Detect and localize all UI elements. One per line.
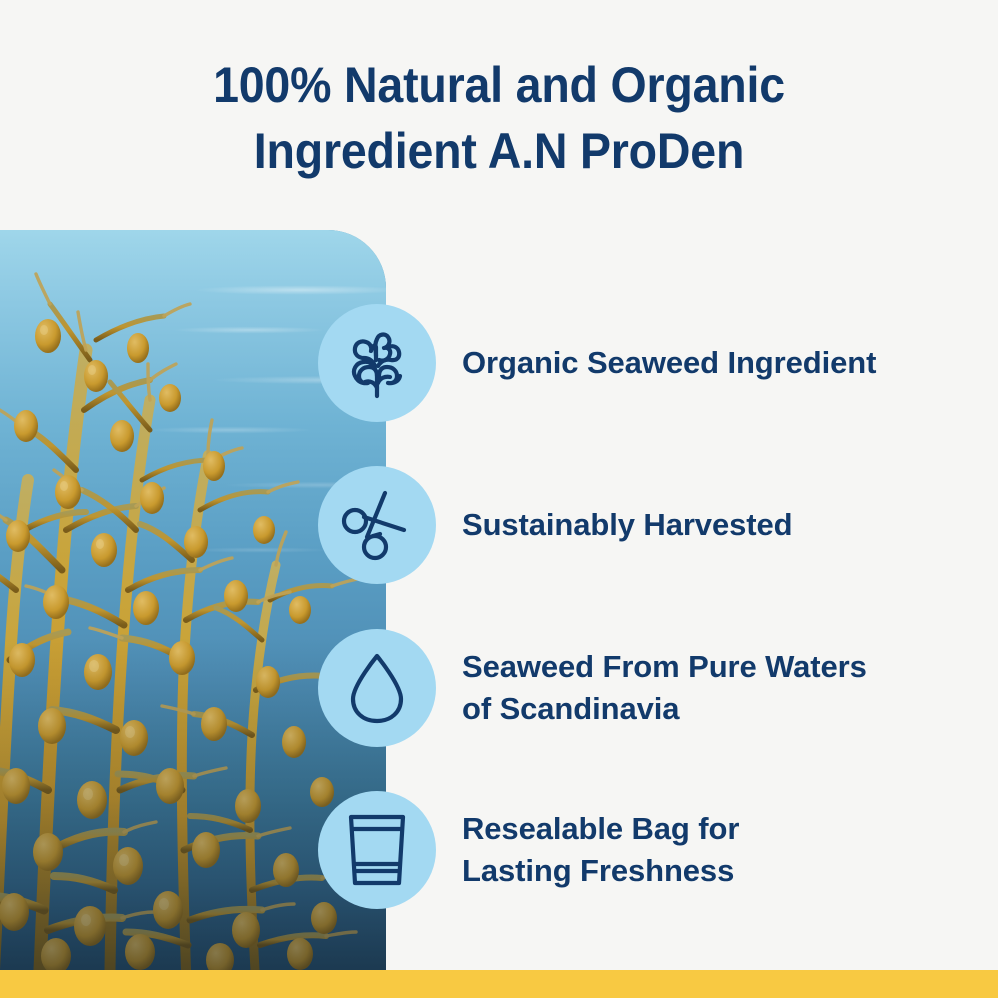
feature-label: Sustainably Harvested bbox=[462, 504, 792, 546]
feature-label: Seaweed From Pure Waters of Scandinavia bbox=[462, 646, 867, 730]
infographic-page: 100% Natural and Organic Ingredient A.N … bbox=[0, 0, 998, 998]
feature-label: Organic Seaweed Ingredient bbox=[462, 342, 876, 384]
feature-item-organic-seaweed: Organic Seaweed Ingredient bbox=[318, 304, 978, 422]
bottom-accent-bar bbox=[0, 970, 998, 998]
feature-item-sustainably-harvested: Sustainably Harvested bbox=[318, 466, 978, 584]
water-droplet-icon bbox=[318, 629, 436, 747]
feature-item-resealable-bag: Resealable Bag for Lasting Freshness bbox=[318, 791, 978, 909]
seaweed-frond-icon bbox=[318, 304, 436, 422]
feature-list: Organic Seaweed Ingredient Sustainably H… bbox=[0, 0, 998, 998]
feature-label: Resealable Bag for Lasting Freshness bbox=[462, 808, 739, 892]
resealable-bag-icon bbox=[318, 791, 436, 909]
feature-item-pure-waters: Seaweed From Pure Waters of Scandinavia bbox=[318, 629, 978, 747]
scissors-icon bbox=[318, 466, 436, 584]
